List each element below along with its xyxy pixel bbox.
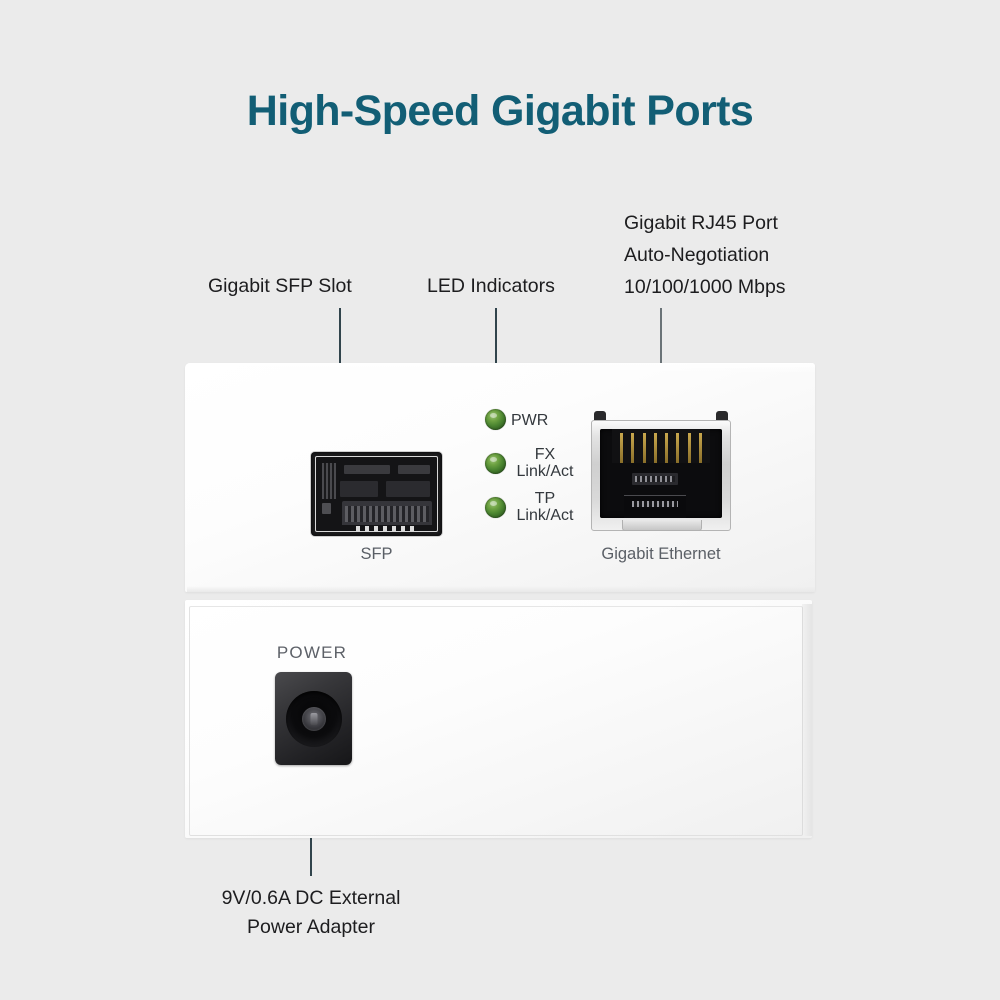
- device-side-panel-edge: [802, 604, 812, 836]
- dc-jack-center-pin: [310, 713, 317, 725]
- sfp-bar: [340, 481, 378, 497]
- led-label-pwr: PWR: [511, 412, 601, 429]
- sfp-bar: [386, 481, 430, 497]
- callout-label-sfp: Gigabit SFP Slot: [208, 274, 352, 299]
- sfp-bar: [398, 465, 430, 474]
- sfp-slot-cavity: [315, 456, 438, 532]
- dc-jack-bowl: [286, 691, 342, 747]
- rj45-skirt: [622, 520, 702, 531]
- rj45-contact-pins: [620, 433, 702, 463]
- callout-label-rj45-line2: Auto-Negotiation: [624, 243, 769, 268]
- sfp-slot[interactable]: [311, 452, 442, 536]
- led-label-tp-line2: Link/Act: [504, 507, 586, 524]
- footer-caption: 9V/0.6A DC External Power Adapter: [161, 884, 461, 942]
- sfp-chip: [322, 503, 331, 514]
- led-label-fx-line1: FX: [504, 446, 586, 463]
- led-indicator-pwr: [485, 409, 506, 430]
- rj45-pin-block: [612, 429, 710, 463]
- dc-power-jack[interactable]: [275, 672, 352, 765]
- rj45-ethernet-port[interactable]: [591, 411, 731, 531]
- footer-caption-line1: 9V/0.6A DC External: [161, 884, 461, 913]
- power-label: POWER: [232, 643, 392, 663]
- rj45-key-pins: [632, 501, 678, 507]
- sfp-tabs: [356, 526, 416, 531]
- rj45-key-slot: [624, 495, 686, 518]
- sfp-connector: [342, 501, 432, 525]
- callout-label-led: LED Indicators: [427, 274, 555, 299]
- led-indicator-tp: [485, 497, 506, 518]
- led-label-tp-line1: TP: [504, 490, 586, 507]
- rj45-center-notch: [632, 473, 678, 485]
- page-title: High-Speed Gigabit Ports: [0, 88, 1000, 135]
- sfp-caption: SFP: [316, 545, 437, 564]
- dc-jack-ring: [302, 707, 326, 731]
- sfp-ribs: [322, 463, 336, 499]
- infographic-canvas: High-Speed Gigabit Ports Gigabit SFP Slo…: [0, 0, 1000, 1000]
- rj45-shield-shell: [591, 420, 731, 531]
- sfp-bar: [344, 465, 390, 474]
- callout-label-rj45-line1: Gigabit RJ45 Port: [624, 211, 778, 236]
- led-label-fx-line2: Link/Act: [504, 463, 586, 480]
- sfp-pins: [345, 506, 429, 522]
- rj45-cavity: [600, 429, 722, 518]
- callout-label-rj45-line3: 10/100/1000 Mbps: [624, 275, 786, 300]
- led-indicator-fx: [485, 453, 506, 474]
- footer-caption-line2: Power Adapter: [161, 913, 461, 942]
- ethernet-caption: Gigabit Ethernet: [576, 545, 746, 564]
